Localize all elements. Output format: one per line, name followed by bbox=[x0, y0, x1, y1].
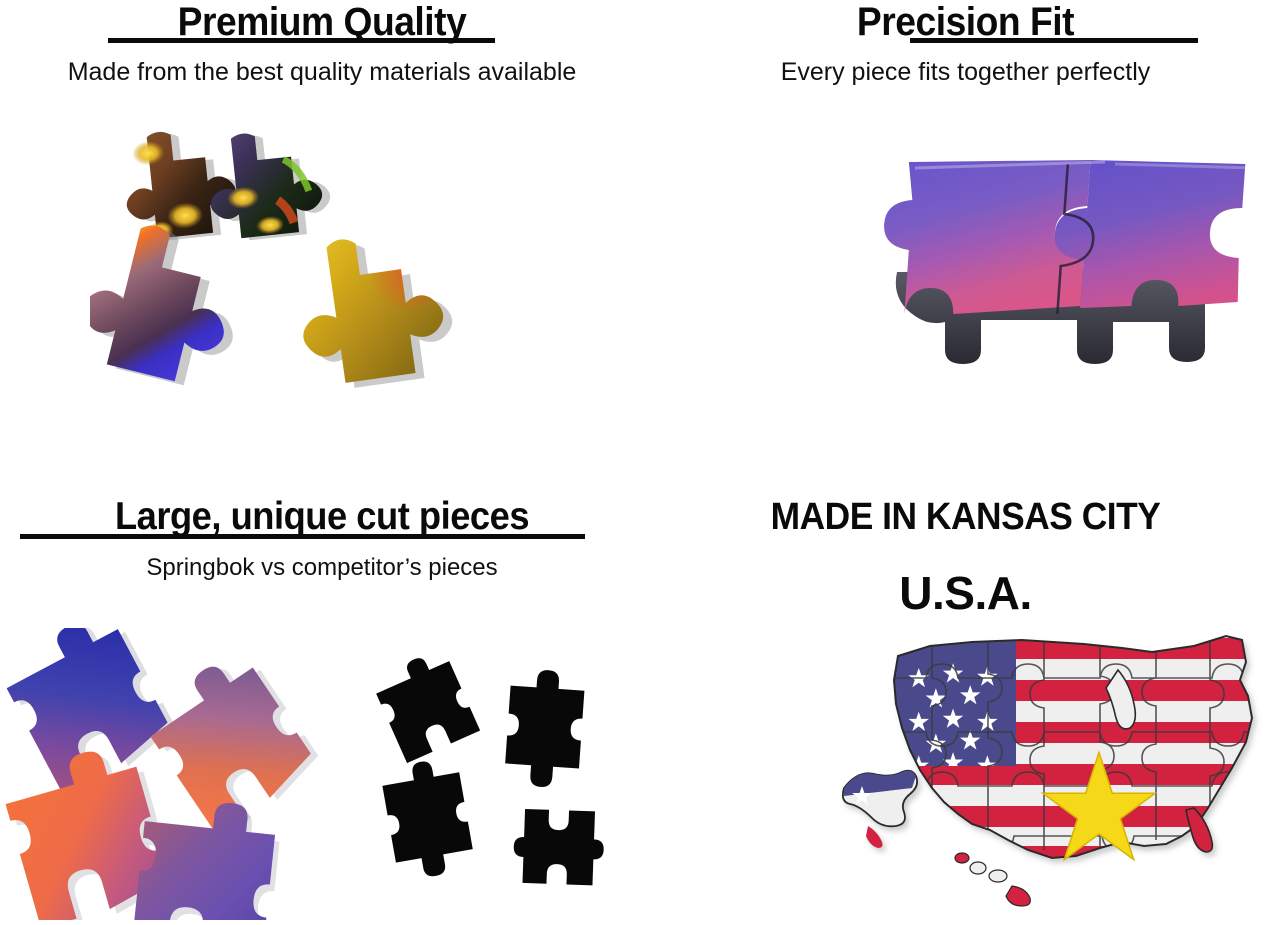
competitor-pieces-image bbox=[372, 658, 612, 894]
precision-fit-title: Precision Fit bbox=[667, 2, 1265, 42]
competitor-piece-2 bbox=[504, 668, 586, 790]
precision-fit-image bbox=[805, 150, 1275, 380]
precision-fit-underline bbox=[910, 38, 1198, 43]
large-cut-underline bbox=[20, 534, 585, 539]
premium-quality-underline bbox=[108, 38, 495, 43]
large-cut-subtitle: Springbok vs competitor’s pieces bbox=[0, 556, 644, 580]
competitor-piece-1 bbox=[372, 658, 480, 763]
premium-quality-subtitle: Made from the best quality materials ava… bbox=[0, 60, 644, 85]
springbok-pieces-image bbox=[0, 628, 330, 920]
competitor-piece-4 bbox=[512, 809, 605, 886]
alaska bbox=[843, 771, 917, 848]
floral-pair-piece-left bbox=[119, 125, 247, 244]
golden-grass-piece bbox=[291, 227, 460, 393]
premium-quality-title: Premium Quality bbox=[23, 2, 622, 42]
usa-flag-map-image bbox=[822, 618, 1284, 920]
sunset-piece bbox=[90, 214, 254, 394]
competitor-piece-3 bbox=[379, 756, 476, 883]
precision-fit-subtitle: Every piece fits together perfectly bbox=[644, 60, 1287, 85]
made-in-kansas-city-title: MADE IN KANSAS CITY bbox=[667, 498, 1265, 536]
usa-title: U.S.A. bbox=[644, 570, 1287, 616]
hawaii bbox=[955, 853, 1030, 906]
premium-quality-image bbox=[90, 108, 550, 418]
large-cut-title: Large, unique cut pieces bbox=[23, 497, 622, 536]
